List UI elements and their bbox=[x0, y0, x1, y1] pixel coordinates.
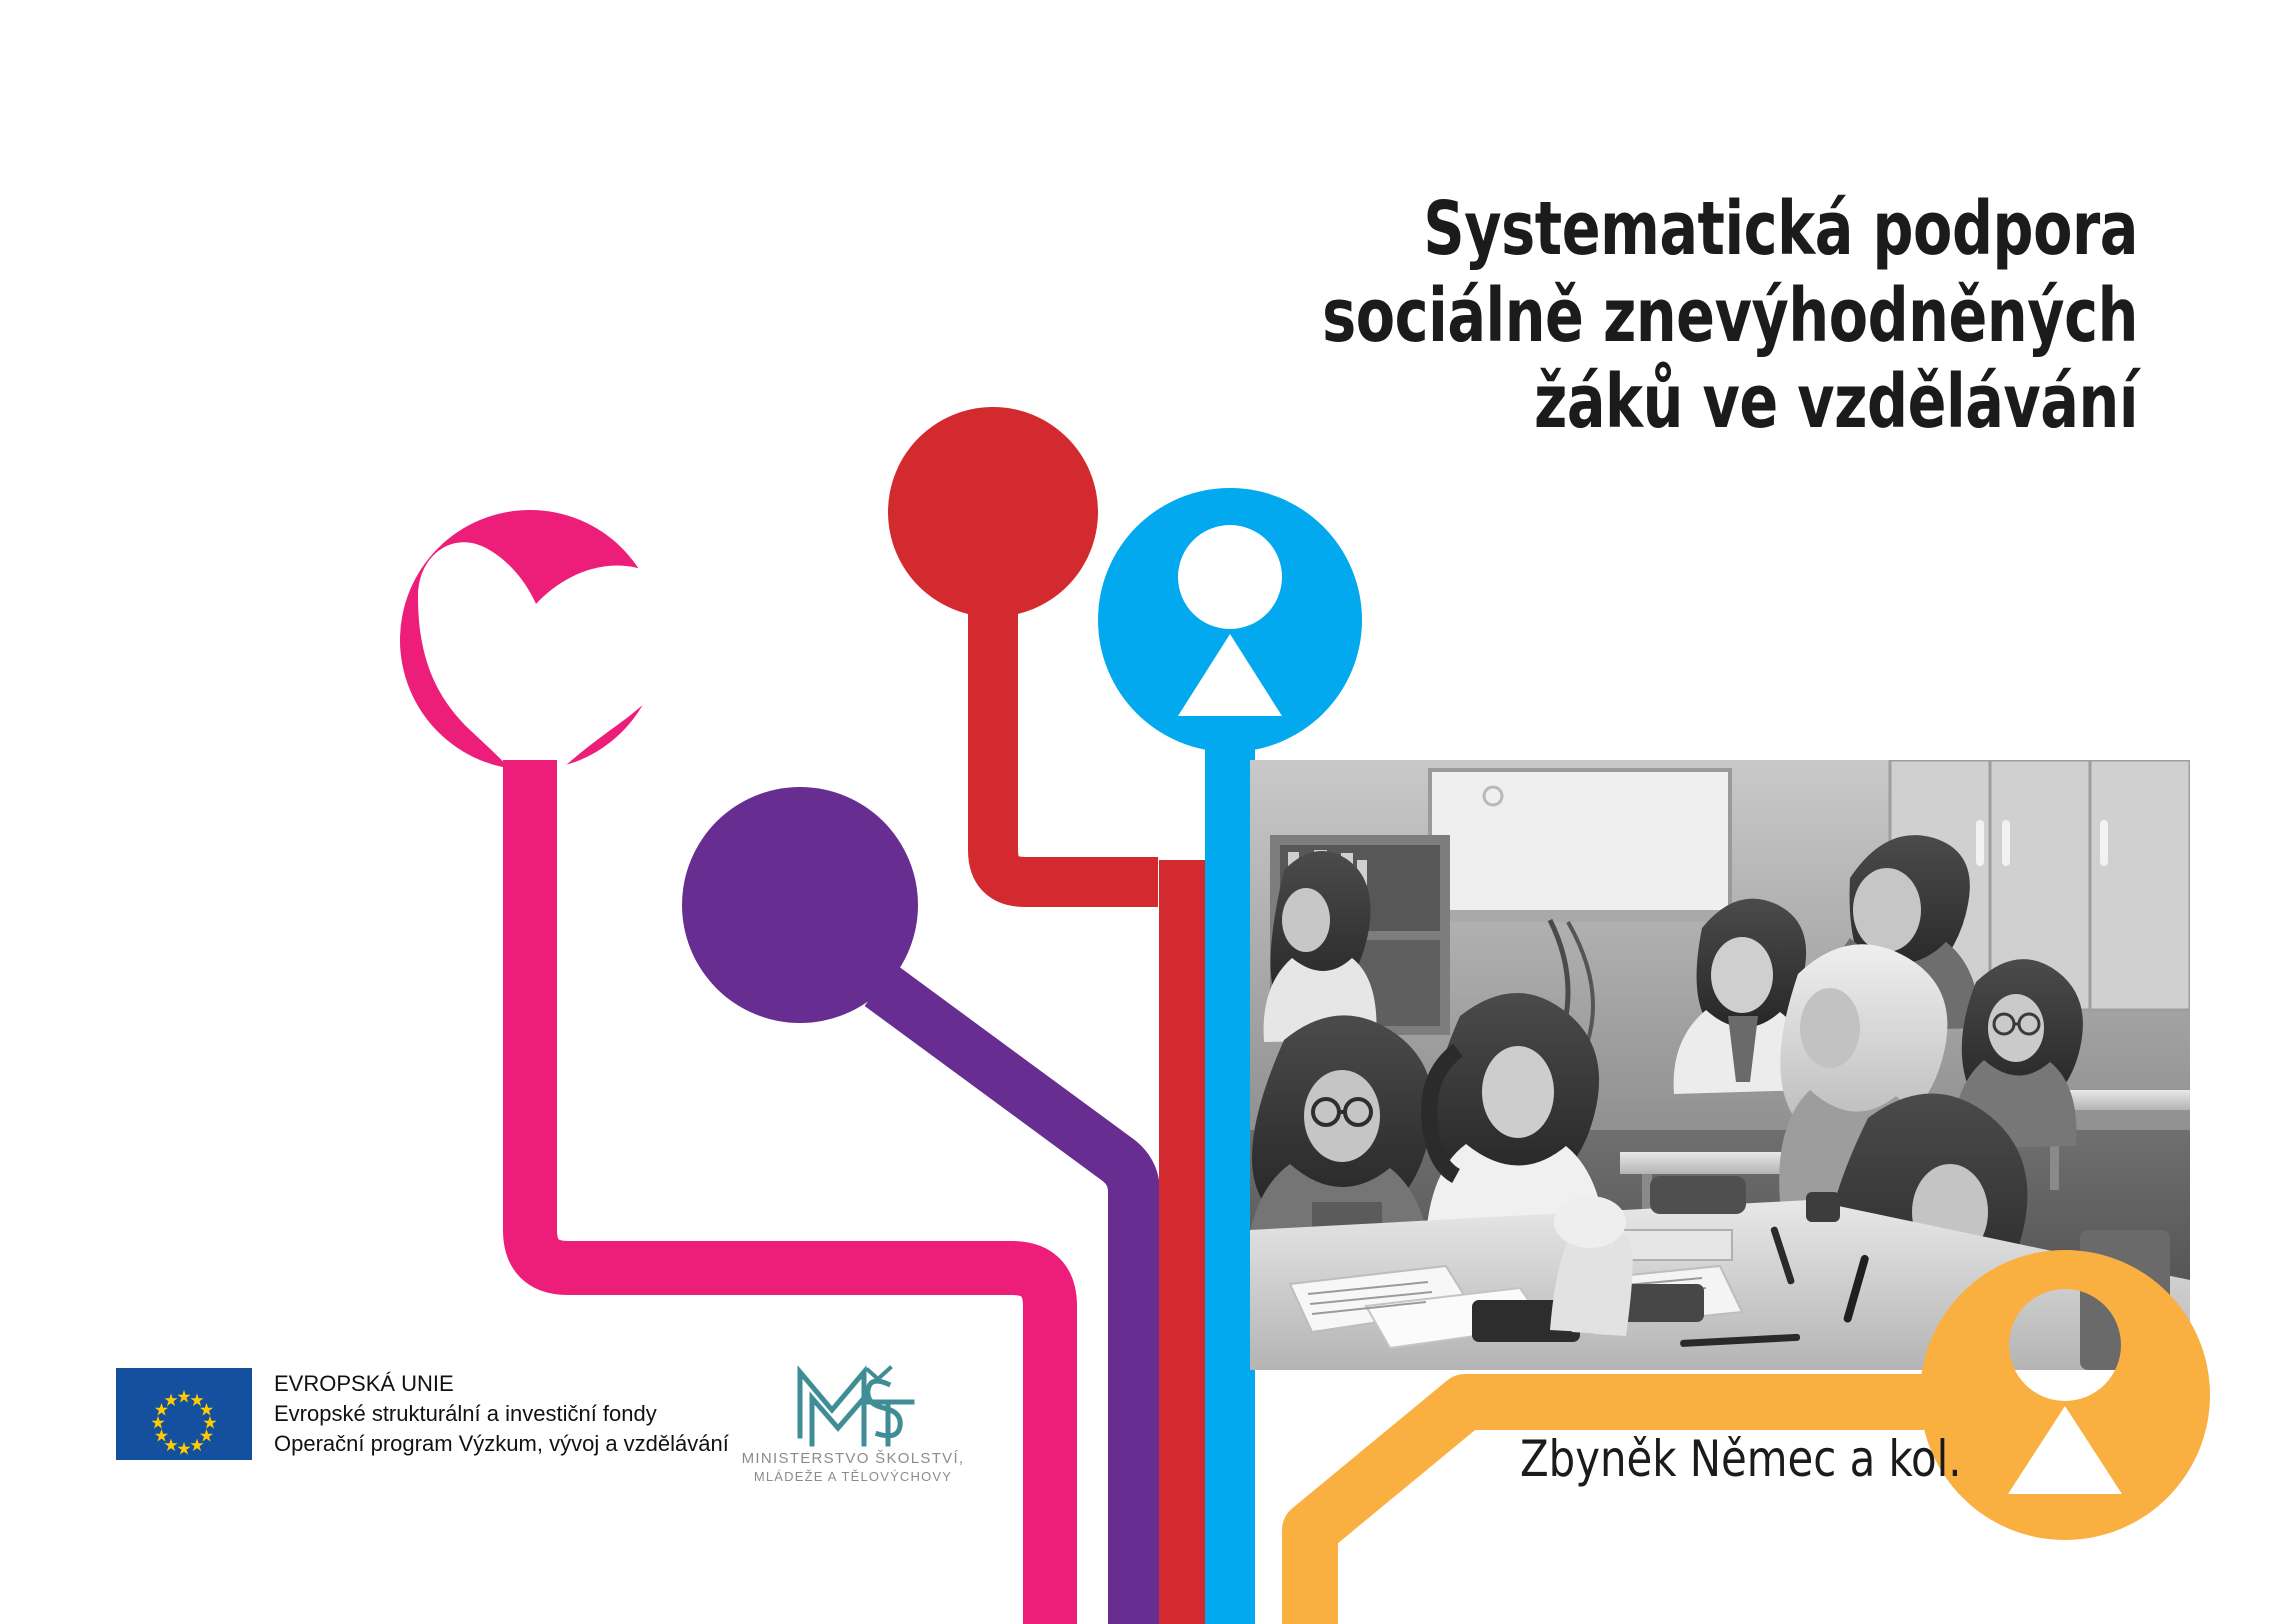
eu-line-3: Operační program Výzkum, vývoj a vzděláv… bbox=[274, 1429, 729, 1459]
title-line-3: žáků ve vzdělávání bbox=[1209, 359, 2138, 446]
title-line-2: sociálně znevýhodněných bbox=[1209, 273, 2138, 360]
eu-line-1: EVROPSKÁ UNIE bbox=[274, 1369, 729, 1399]
book-cover-page: Systematická podpora sociálně znevýhodně… bbox=[0, 0, 2288, 1624]
photo-foreground-hand bbox=[1550, 1196, 1633, 1336]
author-credit: Zbyněk Němec a kol. bbox=[1520, 1430, 1995, 1488]
msmt-logo-text: MINISTERSTVO ŠKOLSTVÍ, MLÁDEŽE A TĚLOVÝC… bbox=[728, 1450, 978, 1484]
eu-logo-text: EVROPSKÁ UNIE Evropské strukturální a in… bbox=[274, 1369, 729, 1459]
purple-node-circle bbox=[682, 787, 918, 1023]
author-name: Zbyněk Němec a kol. bbox=[1520, 1430, 1962, 1488]
msmt-ministry-logo: MINISTERSTVO ŠKOLSTVÍ, MLÁDEŽE A TĚLOVÝC… bbox=[728, 1358, 978, 1484]
eu-flag-icon bbox=[116, 1368, 252, 1460]
title-line-1: Systematická podpora bbox=[1209, 186, 2138, 273]
cyan-person-node-circle bbox=[1098, 488, 1362, 752]
msmt-line-2: MLÁDEŽE A TĚLOVÝCHOVY bbox=[728, 1469, 978, 1484]
heart-node-circle bbox=[400, 510, 660, 770]
msmt-line-1: MINISTERSTVO ŠKOLSTVÍ, bbox=[728, 1450, 978, 1467]
cover-photo bbox=[1250, 760, 2190, 1370]
msmt-monogram-icon bbox=[728, 1358, 978, 1450]
eu-line-2: Evropské strukturální a investiční fondy bbox=[274, 1399, 729, 1429]
page-title: Systematická podpora sociálně znevýhodně… bbox=[1058, 186, 2138, 446]
eu-funding-logo: EVROPSKÁ UNIE Evropské strukturální a in… bbox=[116, 1368, 729, 1460]
